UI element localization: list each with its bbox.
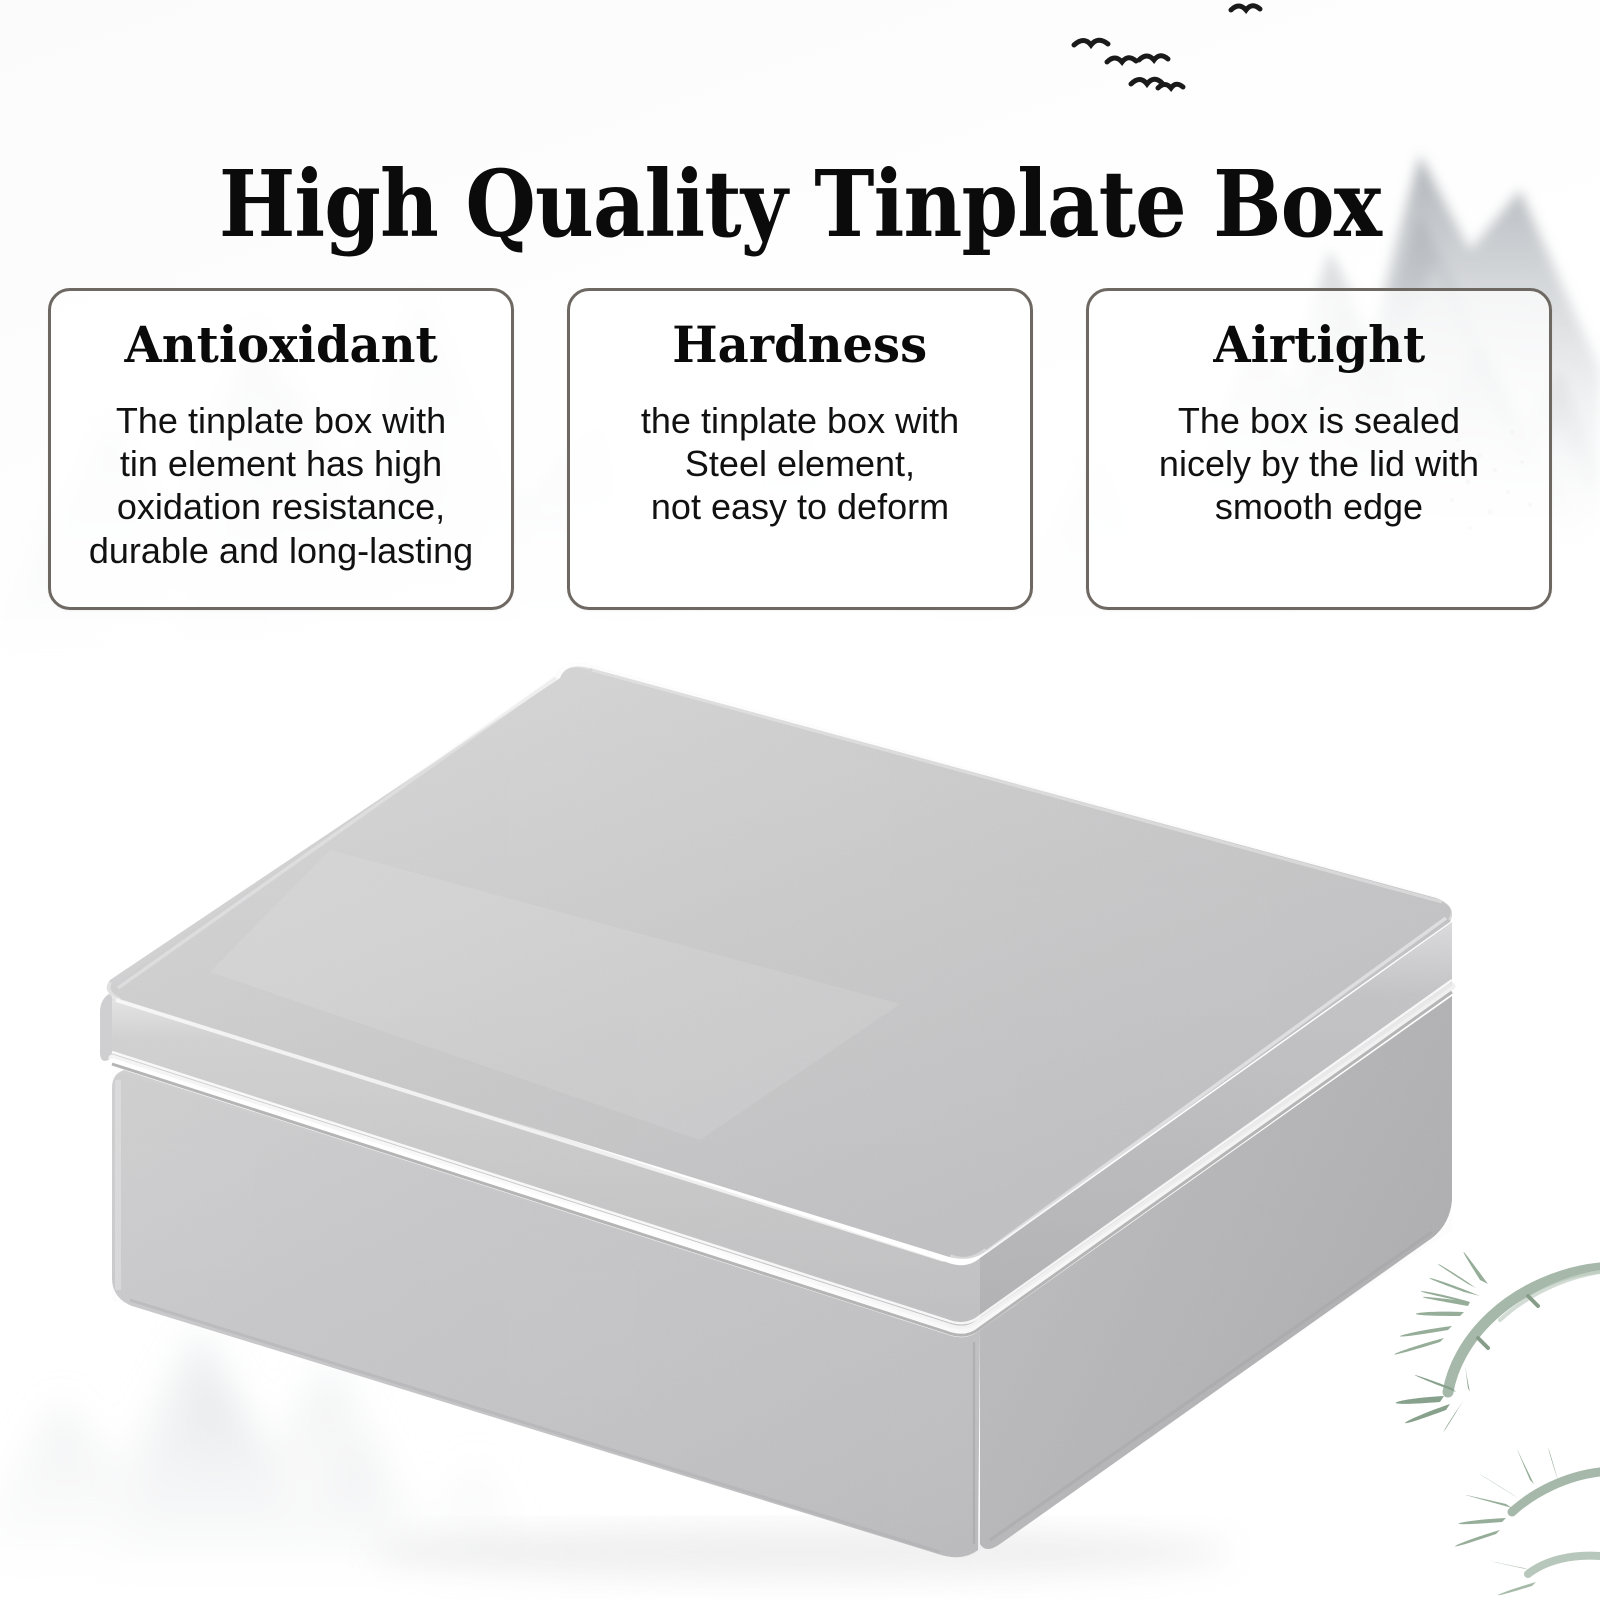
birds-flock [1074,6,1260,88]
feature-card-body: the tinplate box with Steel element, not… [631,399,969,529]
feature-card-body: The box is sealed nicely by the lid with… [1149,399,1489,529]
product-tinplate-box [0,600,1600,1600]
feature-card-airtight[interactable]: Airtight The box is sealed nicely by the… [1086,288,1552,610]
page-title: High Quality Tinplate Box [96,158,1504,250]
feature-card-title: Airtight [1213,317,1425,373]
feature-card-title: Hardness [673,317,928,373]
feature-card-antioxidant[interactable]: Antioxidant The tinplate box with tin el… [48,288,514,610]
feature-card-body: The tinplate box with tin element has hi… [79,399,483,572]
poster-canvas: High Quality Tinplate Box Antioxidant Th… [0,0,1600,1600]
feature-cards-row: Antioxidant The tinplate box with tin el… [48,288,1552,610]
feature-card-title: Antioxidant [124,317,437,373]
feature-card-hardness[interactable]: Hardness the tinplate box with Steel ele… [567,288,1033,610]
product-shadow [370,1526,1230,1578]
lid-skirt-left-cap [100,992,112,1061]
